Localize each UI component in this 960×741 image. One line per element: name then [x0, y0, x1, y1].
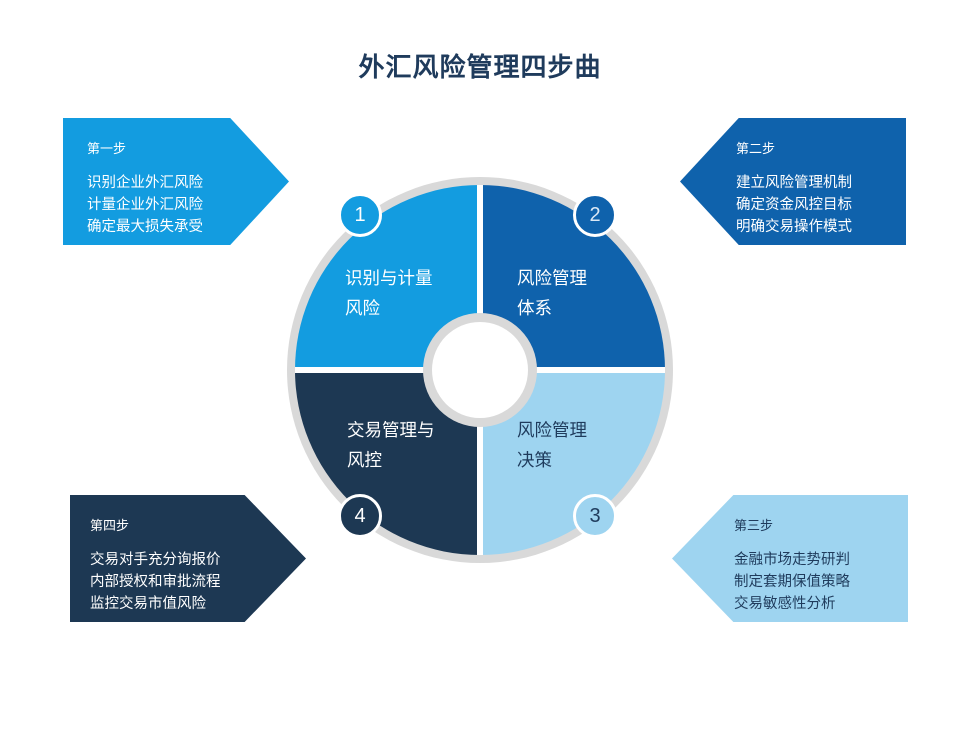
diagram-canvas: 外汇风险管理四步曲 第一步 识别企业外汇风险 计量企业外汇风险 确定最大损失承受… — [0, 0, 960, 741]
callout-step-3-line-3: 交易敏感性分析 — [734, 593, 908, 615]
donut-quadrant-3-line-1: 风险管理 — [517, 415, 587, 445]
callout-step-1-line-3: 确定最大损失承受 — [87, 216, 289, 238]
callout-step-4-line-3: 监控交易市值风险 — [90, 593, 306, 615]
callout-step-1-inner: 第一步 识别企业外汇风险 计量企业外汇风险 确定最大损失承受 — [63, 118, 289, 245]
callout-step-1-line-2: 计量企业外汇风险 — [87, 194, 289, 216]
callout-step-2-lines: 建立风险管理机制 确定资金风控目标 明确交易操作模式 — [736, 172, 906, 238]
callout-step-3-lines: 金融市场走势研判 制定套期保值策略 交易敏感性分析 — [734, 549, 908, 615]
donut-quadrant-4-label: 交易管理与 风控 — [347, 415, 435, 475]
callout-step-3-line-2: 制定套期保值策略 — [734, 571, 908, 593]
step-badge-1[interactable]: 1 — [338, 193, 382, 237]
callout-step-4-inner: 第四步 交易对手充分询报价 内部授权和审批流程 监控交易市值风险 — [70, 495, 306, 622]
donut-quadrant-3-label: 风险管理 决策 — [517, 415, 587, 475]
callout-step-1-lines: 识别企业外汇风险 计量企业外汇风险 确定最大损失承受 — [87, 172, 289, 238]
callout-step-2-line-3: 明确交易操作模式 — [736, 216, 906, 238]
callout-step-2-heading: 第二步 — [736, 140, 906, 158]
callout-step-3[interactable]: 第三步 金融市场走势研判 制定套期保值策略 交易敏感性分析 — [672, 495, 908, 622]
callout-step-1[interactable]: 第一步 识别企业外汇风险 计量企业外汇风险 确定最大损失承受 — [63, 118, 289, 245]
step-badge-4[interactable]: 4 — [338, 494, 382, 538]
donut-quadrant-2-line-2: 体系 — [517, 293, 587, 323]
donut-quadrant-1-label: 识别与计量 风险 — [345, 263, 433, 323]
step-badge-3[interactable]: 3 — [573, 494, 617, 538]
callout-step-3-inner: 第三步 金融市场走势研判 制定套期保值策略 交易敏感性分析 — [672, 495, 908, 622]
donut-quadrant-2-line-1: 风险管理 — [517, 263, 587, 293]
donut-quadrant-1-line-1: 识别与计量 — [345, 263, 433, 293]
donut-quadrant-2-label: 风险管理 体系 — [517, 263, 587, 323]
callout-step-3-line-1: 金融市场走势研判 — [734, 549, 908, 571]
callout-step-4-line-1: 交易对手充分询报价 — [90, 549, 306, 571]
donut-inner-hole — [432, 322, 528, 418]
donut-quadrant-3-line-2: 决策 — [517, 445, 587, 475]
callout-step-2-line-1: 建立风险管理机制 — [736, 172, 906, 194]
callout-step-1-line-1: 识别企业外汇风险 — [87, 172, 289, 194]
donut-quadrant-4-line-2: 风控 — [347, 445, 435, 475]
donut-quadrant-4-line-1: 交易管理与 — [347, 415, 435, 445]
callout-step-4-heading: 第四步 — [90, 517, 306, 535]
callout-step-2-inner: 第二步 建立风险管理机制 确定资金风控目标 明确交易操作模式 — [680, 118, 906, 245]
page-title: 外汇风险管理四步曲 — [0, 50, 960, 84]
callout-step-3-heading: 第三步 — [734, 517, 908, 535]
callout-step-2-line-2: 确定资金风控目标 — [736, 194, 906, 216]
callout-step-4-lines: 交易对手充分询报价 内部授权和审批流程 监控交易市值风险 — [90, 549, 306, 615]
callout-step-2[interactable]: 第二步 建立风险管理机制 确定资金风控目标 明确交易操作模式 — [680, 118, 906, 245]
callout-step-4-line-2: 内部授权和审批流程 — [90, 571, 306, 593]
step-badge-2[interactable]: 2 — [573, 193, 617, 237]
callout-step-1-heading: 第一步 — [87, 140, 289, 158]
callout-step-4[interactable]: 第四步 交易对手充分询报价 内部授权和审批流程 监控交易市值风险 — [70, 495, 306, 622]
donut-quadrant-1-line-2: 风险 — [345, 293, 433, 323]
